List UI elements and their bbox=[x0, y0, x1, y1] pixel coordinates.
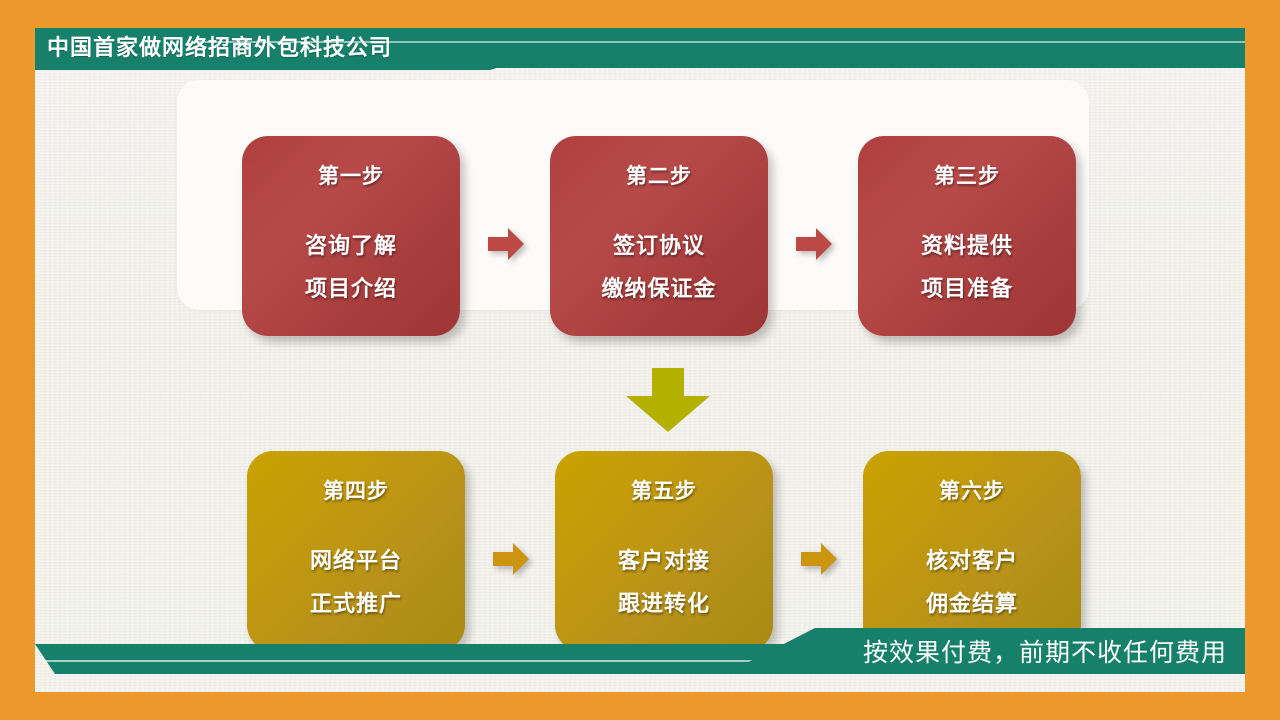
step-card-4[interactable]: 第四步 网络平台 正式推广 bbox=[247, 451, 465, 651]
step-card-1-title: 第一步 bbox=[318, 160, 384, 190]
step-card-1-line1: 咨询了解 bbox=[305, 224, 397, 267]
step-card-4-body: 网络平台 正式推广 bbox=[310, 539, 402, 625]
arrow-right-icon bbox=[794, 224, 834, 264]
step-card-4-line2: 正式推广 bbox=[310, 582, 402, 625]
step-card-3[interactable]: 第三步 资料提供 项目准备 bbox=[858, 136, 1076, 336]
step-card-5[interactable]: 第五步 客户对接 跟进转化 bbox=[555, 451, 773, 651]
step-card-3-title: 第三步 bbox=[934, 160, 1000, 190]
step-card-2-body: 签订协议 缴纳保证金 bbox=[601, 224, 716, 310]
step-card-6-line1: 核对客户 bbox=[926, 539, 1018, 582]
footer-tagline: 按效果付费，前期不收任何费用 bbox=[863, 633, 1227, 669]
step-card-2-line2: 缴纳保证金 bbox=[601, 267, 716, 310]
slide: 中国首家做网络招商外包科技公司 第一步 咨询了解 项目介绍 第二步 签订协议 缴… bbox=[0, 0, 1280, 720]
step-card-6-title: 第六步 bbox=[939, 475, 1005, 505]
footer-banner: 按效果付费，前期不收任何费用 bbox=[35, 632, 1245, 692]
arrow-right-icon bbox=[486, 224, 526, 264]
step-card-1-body: 咨询了解 项目介绍 bbox=[305, 224, 397, 310]
step-card-6[interactable]: 第六步 核对客户 佣金结算 bbox=[863, 451, 1081, 651]
step-card-2[interactable]: 第二步 签订协议 缴纳保证金 bbox=[550, 136, 768, 336]
step-card-5-title: 第五步 bbox=[631, 475, 697, 505]
step-card-5-body: 客户对接 跟进转化 bbox=[618, 539, 710, 625]
step-card-3-line2: 项目准备 bbox=[921, 267, 1013, 310]
step-card-3-line1: 资料提供 bbox=[921, 224, 1013, 267]
step-card-3-body: 资料提供 项目准备 bbox=[921, 224, 1013, 310]
footer-accent-strip bbox=[35, 644, 795, 674]
header-banner: 中国首家做网络招商外包科技公司 bbox=[35, 28, 1245, 76]
footer-hairline bbox=[41, 660, 781, 662]
step-card-4-title: 第四步 bbox=[323, 475, 389, 505]
step-card-4-line1: 网络平台 bbox=[310, 539, 402, 582]
step-card-1-line2: 项目介绍 bbox=[305, 267, 397, 310]
arrow-down-icon bbox=[622, 366, 714, 434]
step-card-5-line2: 跟进转化 bbox=[618, 582, 710, 625]
page-title: 中国首家做网络招商外包科技公司 bbox=[47, 33, 392, 63]
step-card-5-line1: 客户对接 bbox=[618, 539, 710, 582]
step-card-6-body: 核对客户 佣金结算 bbox=[926, 539, 1018, 625]
step-card-6-line2: 佣金结算 bbox=[926, 582, 1018, 625]
arrow-right-icon bbox=[799, 539, 839, 579]
step-card-2-title: 第二步 bbox=[626, 160, 692, 190]
step-card-2-line1: 签订协议 bbox=[601, 224, 716, 267]
step-card-1[interactable]: 第一步 咨询了解 项目介绍 bbox=[242, 136, 460, 336]
slide-canvas: 中国首家做网络招商外包科技公司 第一步 咨询了解 项目介绍 第二步 签订协议 缴… bbox=[35, 28, 1245, 692]
arrow-right-icon bbox=[491, 539, 531, 579]
